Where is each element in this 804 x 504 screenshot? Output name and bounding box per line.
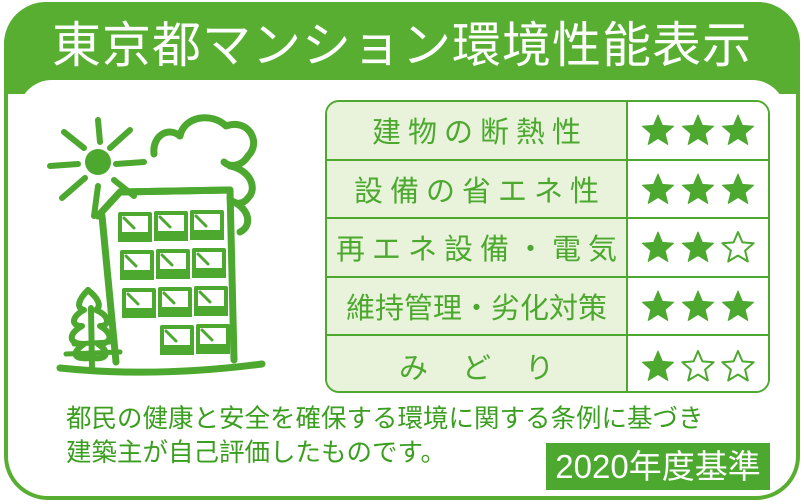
- ratings-table: 建物の断熱性 設備の省エネ性 再エネ設備・電気 維持管理・劣化対策 みどり: [325, 100, 770, 393]
- star-empty-icon: [721, 230, 755, 264]
- star-filled-icon: [641, 349, 675, 383]
- sun-icon: [85, 149, 111, 175]
- rating-label: 維持管理・劣化対策: [327, 278, 628, 335]
- rating-stars: [628, 102, 768, 159]
- star-filled-icon: [721, 289, 755, 323]
- star-filled-icon: [681, 289, 715, 323]
- building-windows: [118, 212, 230, 355]
- rating-stars: [628, 336, 768, 393]
- rating-label: みどり: [327, 336, 628, 393]
- star-filled-icon: [641, 172, 675, 206]
- standard-year-badge: 2020年度基準: [546, 443, 770, 490]
- table-row: 再エネ設備・電気: [327, 219, 768, 278]
- footer-note-line-1: 都民の健康と安全を確保する環境に関する条例に基づき: [66, 402, 726, 436]
- star-filled-icon: [641, 289, 675, 323]
- table-row: みどり: [327, 336, 768, 393]
- table-row: 建物の断熱性: [327, 102, 768, 161]
- star-filled-icon: [641, 113, 675, 147]
- star-filled-icon: [641, 230, 675, 264]
- star-filled-icon: [681, 113, 715, 147]
- rating-label: 設備の省エネ性: [327, 161, 628, 218]
- star-filled-icon: [721, 172, 755, 206]
- star-empty-icon: [681, 349, 715, 383]
- apartment-building-eco-illustration: [34, 96, 320, 396]
- rating-stars: [628, 161, 768, 218]
- table-row: 維持管理・劣化対策: [327, 278, 768, 337]
- rating-stars: [628, 278, 768, 335]
- rating-label: 再エネ設備・電気: [327, 219, 628, 276]
- table-row: 設備の省エネ性: [327, 161, 768, 220]
- star-filled-icon: [681, 172, 715, 206]
- rating-label: 建物の断熱性: [327, 102, 628, 159]
- environmental-performance-label: 東京都マンション環境性能表示: [0, 0, 804, 504]
- rating-stars: [628, 219, 768, 276]
- star-filled-icon: [721, 113, 755, 147]
- star-filled-icon: [681, 230, 715, 264]
- star-empty-icon: [721, 349, 755, 383]
